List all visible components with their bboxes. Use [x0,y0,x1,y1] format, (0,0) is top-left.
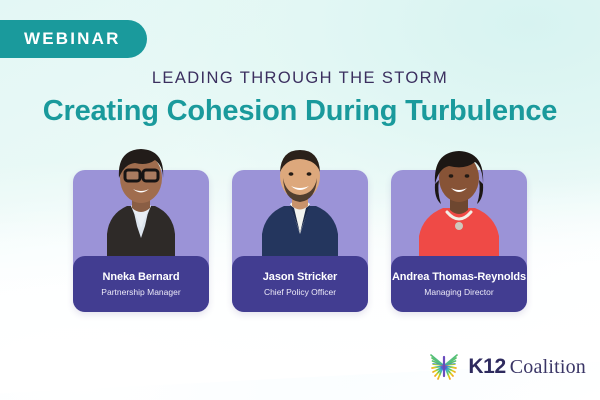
webinar-poster: WEBINAR LEADING THROUGH THE STORM Creati… [0,0,600,400]
butterfly-icon [427,352,461,382]
logo-wordmark: K12 Coalition [468,355,586,379]
speaker-photo [232,154,368,256]
webinar-badge: WEBINAR [0,20,147,58]
logo-coalition-text: Coalition [510,356,586,379]
webinar-badge-label: WEBINAR [24,29,121,49]
headshot-nneka-bernard [77,138,205,256]
speaker-name: Nneka Bernard [103,271,180,283]
speaker-photo [73,154,209,256]
logo-k12-text: K12 [468,355,505,379]
speaker-name: Andrea Thomas-Reynolds [392,271,526,283]
speaker-nameplate: Andrea Thomas-Reynolds Managing Director [391,256,527,312]
speaker-role: Partnership Manager [101,287,180,297]
speaker-nameplate: Nneka Bernard Partnership Manager [73,256,209,312]
speaker-card: Nneka Bernard Partnership Manager [73,170,209,312]
headshot-jason-stricker [236,138,364,256]
headshot-andrea-thomas-reynolds [395,138,523,256]
speaker-role: Chief Policy Officer [264,287,336,297]
speaker-role: Managing Director [424,287,493,297]
speaker-nameplate: Jason Stricker Chief Policy Officer [232,256,368,312]
eyebrow-text: LEADING THROUGH THE STORM [0,69,600,88]
speaker-card-list: Nneka Bernard Partnership Manager [0,170,600,312]
speaker-name: Jason Stricker [263,271,337,283]
speaker-photo [391,154,527,256]
speaker-card: Andrea Thomas-Reynolds Managing Director [391,170,527,312]
brand-logo: K12 Coalition [427,352,586,382]
speaker-card: Jason Stricker Chief Policy Officer [232,170,368,312]
page-title: Creating Cohesion During Turbulence [0,95,600,128]
